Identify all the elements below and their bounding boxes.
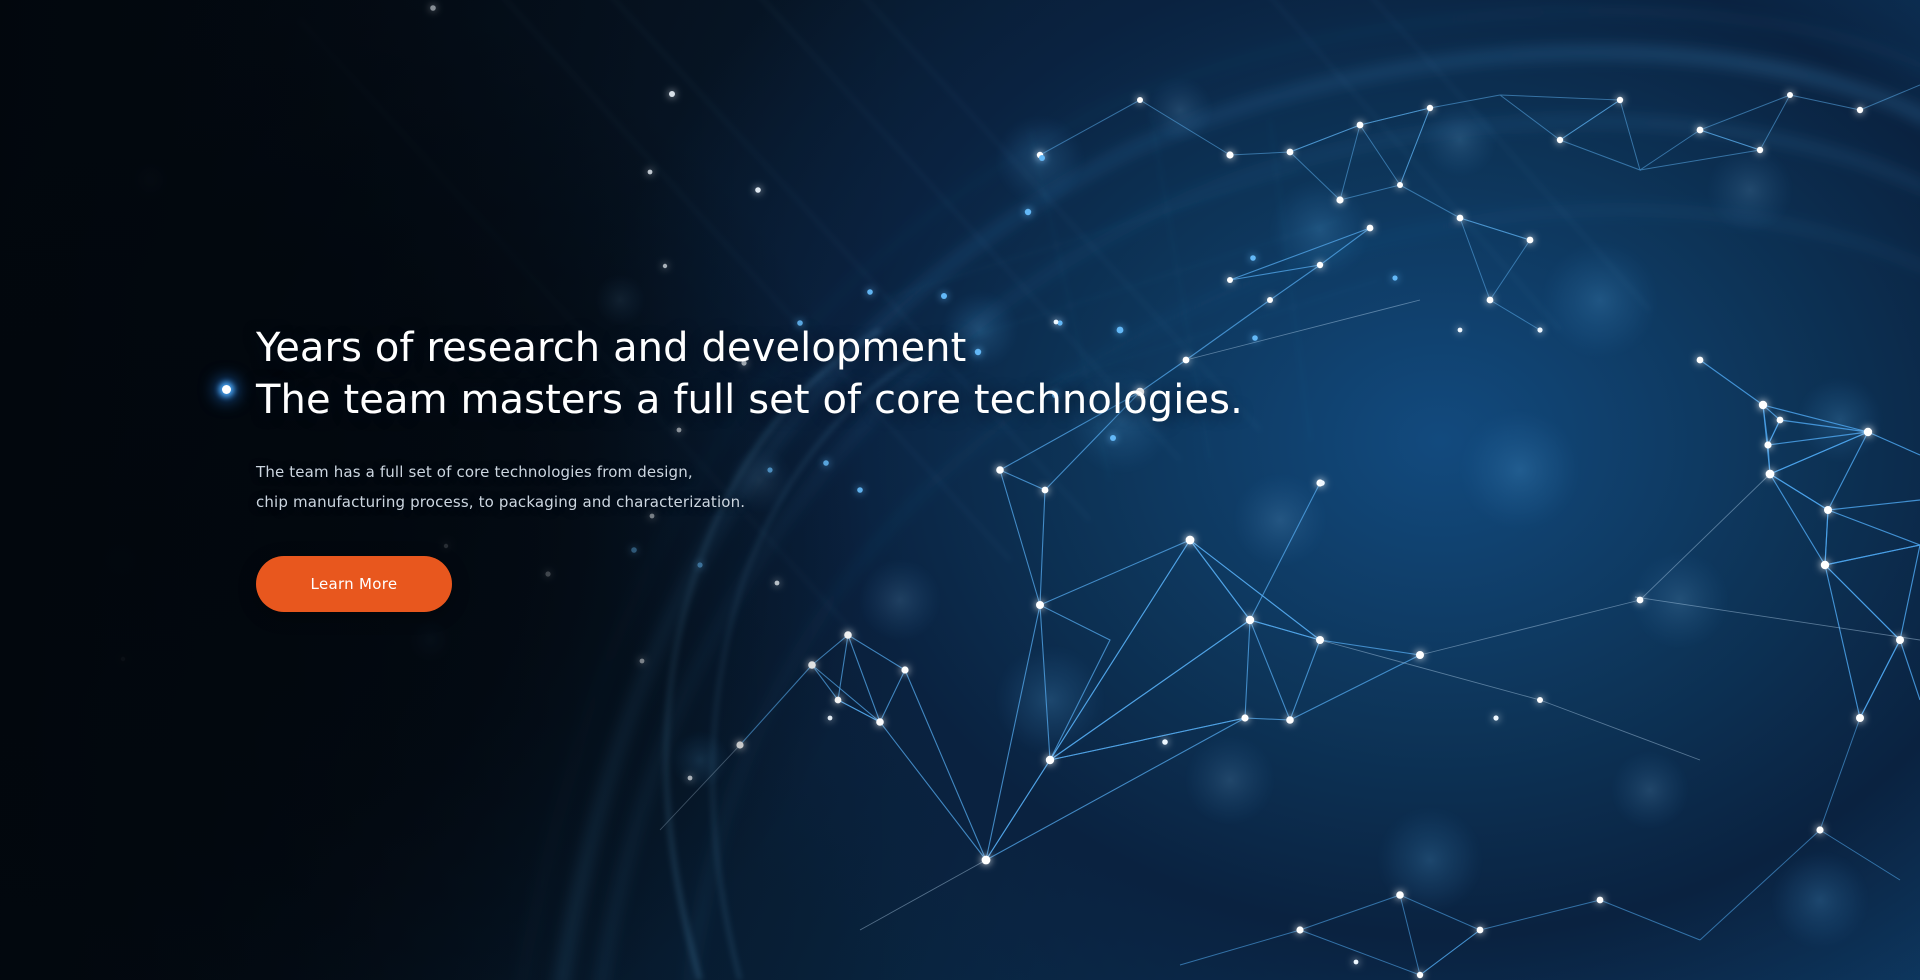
description-line-1: The team has a full set of core technolo…: [256, 457, 1156, 487]
headline-line-1: Years of research and development: [256, 325, 966, 371]
glow-dot-icon: [222, 385, 231, 394]
hero-content: Years of research and development The te…: [256, 322, 1156, 612]
hero-banner: Years of research and development The te…: [0, 0, 1920, 980]
hero-description: The team has a full set of core technolo…: [256, 457, 1156, 517]
page-title: Years of research and development The te…: [256, 322, 1156, 426]
description-line-2: chip manufacturing process, to packaging…: [256, 487, 1156, 517]
learn-more-button[interactable]: Learn More: [256, 556, 452, 612]
headline-line-2: The team masters a full set of core tech…: [256, 374, 1156, 426]
